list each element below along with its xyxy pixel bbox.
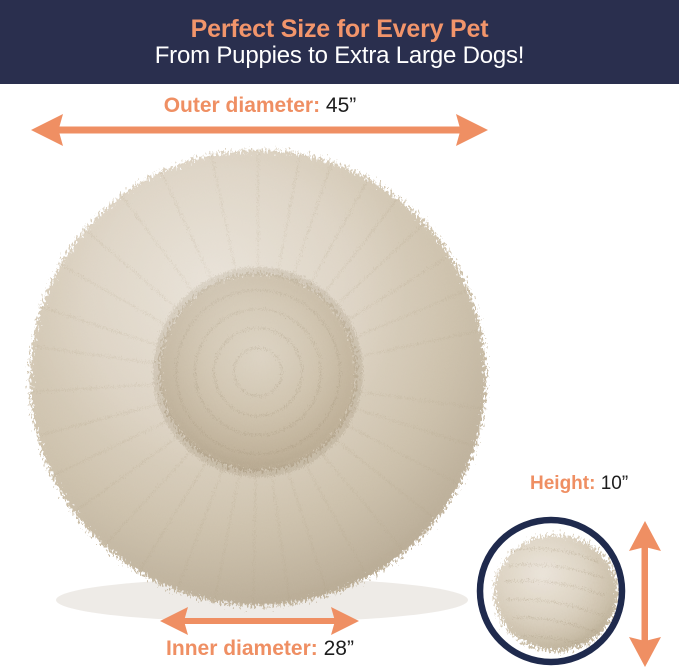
main-pet-bed-top-view	[30, 150, 486, 622]
height-label: Height: 10”	[530, 474, 628, 493]
outer-diameter-value: 45”	[326, 94, 356, 117]
outer-diameter-key: Outer diameter:	[164, 94, 320, 117]
inner-diameter-key: Inner diameter:	[166, 637, 318, 660]
banner-title: Perfect Size for Every Pet	[191, 16, 489, 42]
header-banner: Perfect Size for Every Pet From Puppies …	[0, 0, 679, 84]
height-value: 10”	[601, 473, 628, 494]
banner-subtitle: From Puppies to Extra Large Dogs!	[155, 43, 525, 68]
outer-diameter-label: Outer diameter: 45”	[0, 95, 520, 116]
inner-diameter-label: Inner diameter: 28”	[0, 638, 520, 659]
inner-diameter-value: 28”	[324, 637, 354, 660]
height-key: Height:	[530, 473, 595, 494]
